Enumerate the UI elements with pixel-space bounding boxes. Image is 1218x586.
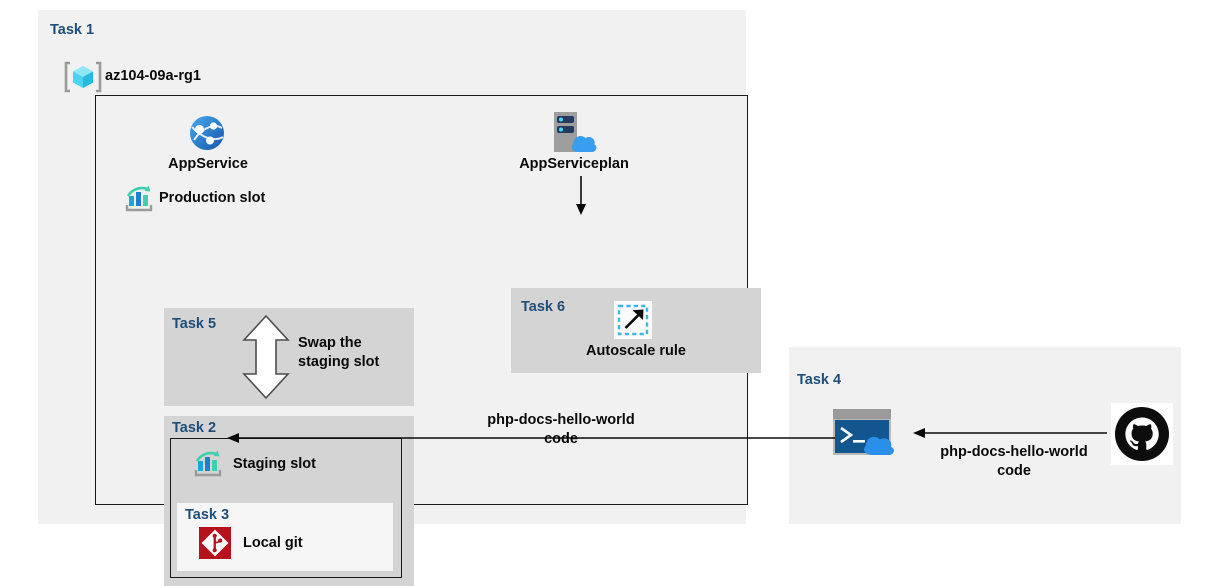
group-task4[interactable]: Task 4 php-docs-hello-worldcode <box>789 347 1181 524</box>
cloudshell-to-localgit-arrow <box>225 430 835 446</box>
task5-label: Task 5 <box>172 316 216 332</box>
deployment-slot-icon <box>193 449 223 479</box>
cloud-shell-icon <box>831 407 907 459</box>
group-task5[interactable]: Task 5 Swap thestaging slot <box>164 308 414 406</box>
staging-slot-label: Staging slot <box>233 455 316 474</box>
center-arrow-label-line1: php-docs-hello-world <box>487 412 634 428</box>
task5-text-line1: Swap the <box>298 335 362 351</box>
appserviceplan-to-autoscale-arrow <box>566 176 596 216</box>
task4-label: Task 4 <box>797 372 841 388</box>
staging-slot-box[interactable]: Staging slot Task 3 <box>170 438 402 578</box>
resource-group-icon <box>64 58 102 96</box>
task1-label: Task 1 <box>50 22 94 38</box>
task4-arrow-label-line1: php-docs-hello-world <box>940 444 1087 460</box>
autoscale-rule-label: Autoscale rule <box>536 342 736 361</box>
task3-label: Task 3 <box>185 507 229 523</box>
group-task6[interactable]: Task 6 Autoscale rule <box>511 288 761 373</box>
appservice-label: AppService <box>106 155 310 174</box>
task5-text: Swap thestaging slot <box>298 334 408 371</box>
app-service-icon <box>186 112 228 154</box>
github-to-cloudshell-arrow <box>911 425 1107 441</box>
task5-text-line2: staging slot <box>298 354 379 370</box>
deployment-slot-icon <box>124 184 154 214</box>
double-arrow-updown-icon <box>242 314 290 400</box>
task4-arrow-label: php-docs-hello-worldcode <box>899 443 1129 480</box>
appserviceplan-label: AppServiceplan <box>484 155 664 174</box>
production-slot-label: Production slot <box>159 189 265 208</box>
git-icon <box>199 527 231 559</box>
diagram-canvas: Task 1 az104-09a-rg1 <box>0 0 1218 545</box>
group-task1[interactable]: Task 1 az104-09a-rg1 <box>38 10 746 524</box>
task6-label: Task 6 <box>521 299 565 315</box>
local-git-label: Local git <box>243 534 303 553</box>
github-icon <box>1111 403 1173 465</box>
task2-label: Task 2 <box>172 420 216 436</box>
autoscale-icon <box>614 301 652 339</box>
task4-arrow-label-line2: code <box>997 463 1031 479</box>
app-service-plan-icon <box>548 109 600 159</box>
group-task3[interactable]: Task 3 <box>177 503 393 571</box>
resource-group-name: az104-09a-rg1 <box>105 67 201 86</box>
